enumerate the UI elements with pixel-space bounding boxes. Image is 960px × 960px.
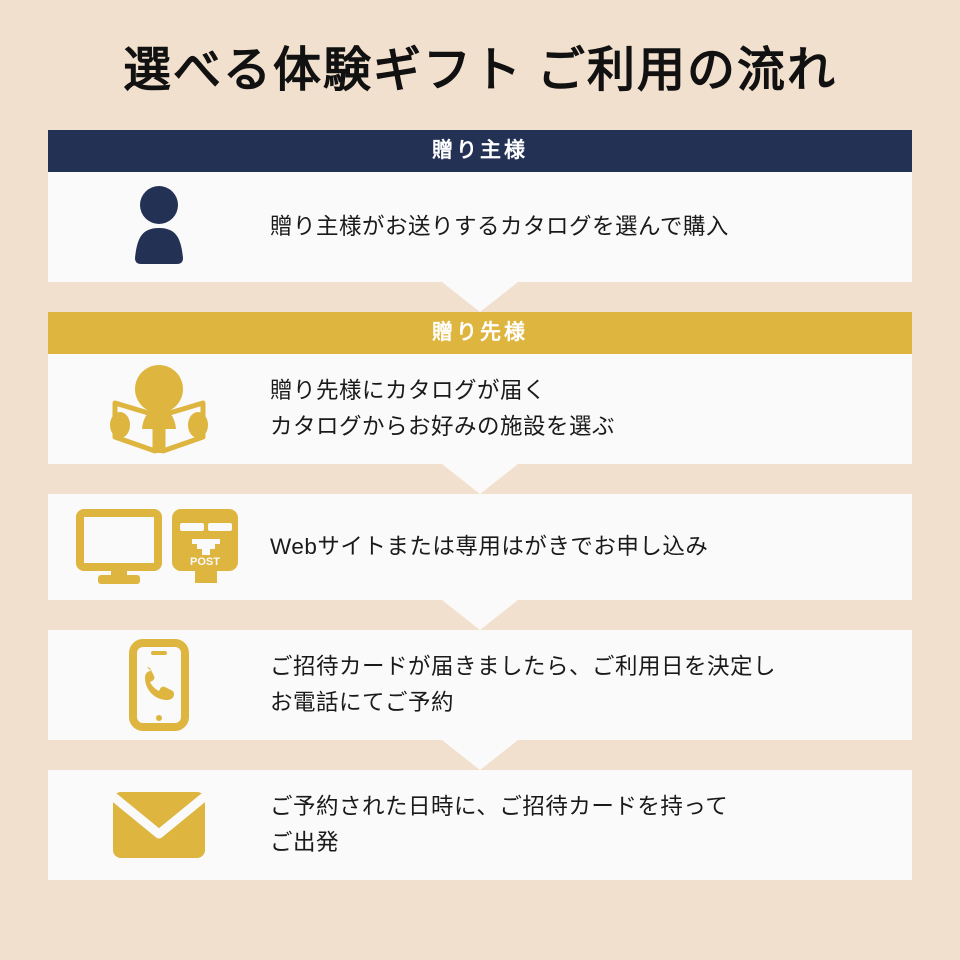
step-4-text: ご招待カードが届きましたら、ご利用日を決定し お電話にてご予約	[270, 649, 912, 722]
step-3-icon-cell: POST	[48, 494, 270, 600]
person-icon	[128, 186, 190, 268]
person-reading-catalog-icon	[107, 363, 211, 455]
smartphone-phone-icon	[129, 639, 189, 731]
connector-arrow-2	[442, 464, 518, 494]
section-header-recipient: 贈り先様	[48, 312, 912, 354]
section-header-sender: 贈り主様	[48, 130, 912, 172]
step-5-icon-cell	[48, 770, 270, 880]
step-1-icon-cell	[48, 172, 270, 282]
flow-chart: 贈り主様 贈り主様がお送りするカタログを選んで購入	[48, 130, 912, 880]
step-2-line-2: カタログからお好みの施設を選ぶ	[270, 409, 892, 445]
monitor-and-postbox-icon: POST	[76, 505, 242, 589]
connector-arrow-3	[442, 600, 518, 630]
step-1-text: 贈り主様がお送りするカタログを選んで購入	[270, 209, 912, 245]
step-3-text: Webサイトまたは専用はがきでお申し込み	[270, 529, 912, 565]
connector-arrow-4	[442, 740, 518, 770]
envelope-icon	[113, 792, 205, 858]
step-row-2: 贈り先様にカタログが届く カタログからお好みの施設を選ぶ	[48, 354, 912, 464]
step-row-5: ご予約された日時に、ご招待カードを持って ご出発	[48, 770, 912, 880]
postbox-label: POST	[190, 556, 220, 568]
infographic-page: 選べる体験ギフト ご利用の流れ 贈り主様 贈り主様がお送りするカタログを選んで購…	[0, 0, 960, 960]
step-row-1: 贈り主様がお送りするカタログを選んで購入	[48, 172, 912, 282]
step-2-icon-cell	[48, 354, 270, 464]
step-1-line-1: 贈り主様がお送りするカタログを選んで購入	[270, 209, 892, 245]
section-recipient: 贈り先様	[48, 312, 912, 880]
step-4-line-2: お電話にてご予約	[270, 685, 892, 721]
page-title: 選べる体験ギフト ご利用の流れ	[0, 30, 960, 100]
step-row-4: ご招待カードが届きましたら、ご利用日を決定し お電話にてご予約	[48, 630, 912, 740]
step-row-3: POST Webサイトまたは専用はがきでお申し込み	[48, 494, 912, 600]
step-4-icon-cell	[48, 630, 270, 740]
connector-arrow-1	[442, 282, 518, 312]
step-5-line-1: ご予約された日時に、ご招待カードを持って	[270, 789, 892, 825]
section-sender: 贈り主様 贈り主様がお送りするカタログを選んで購入	[48, 130, 912, 282]
step-5-line-2: ご出発	[270, 825, 892, 861]
step-4-line-1: ご招待カードが届きましたら、ご利用日を決定し	[270, 649, 892, 685]
step-2-line-1: 贈り先様にカタログが届く	[270, 373, 892, 409]
step-2-text: 贈り先様にカタログが届く カタログからお好みの施設を選ぶ	[270, 373, 912, 446]
step-5-text: ご予約された日時に、ご招待カードを持って ご出発	[270, 789, 912, 862]
step-3-line-1: Webサイトまたは専用はがきでお申し込み	[270, 529, 892, 565]
